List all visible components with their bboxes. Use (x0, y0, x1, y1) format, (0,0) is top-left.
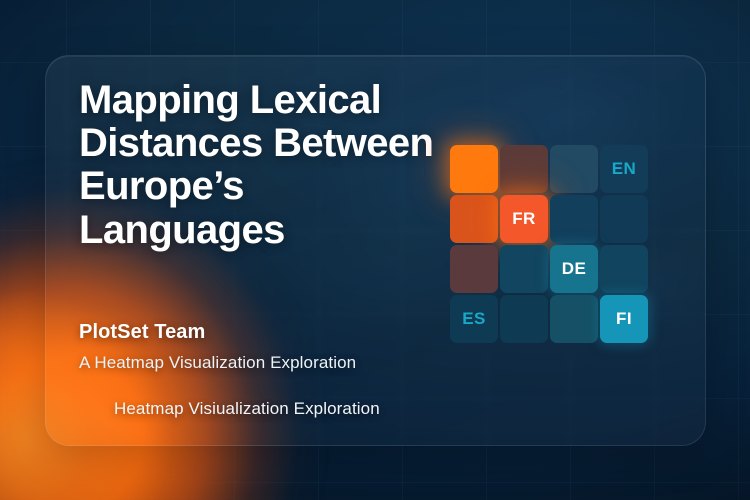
footnote: Heatmap Visiualization Exploration (114, 399, 380, 419)
poster-canvas: Mapping Lexical Distances Between Europe… (0, 0, 750, 500)
heatmap-cell[interactable] (450, 195, 498, 243)
heatmap-cell[interactable] (450, 245, 498, 293)
heatmap-cell[interactable] (600, 245, 648, 293)
heatmap-cell[interactable] (500, 245, 548, 293)
glass-card: Mapping Lexical Distances Between Europe… (45, 55, 706, 446)
subtitle: A Heatmap Visualization Exploration (79, 353, 356, 373)
heatmap-cell[interactable]: FI (600, 295, 648, 343)
heatmap-cell[interactable] (550, 145, 598, 193)
page-title: Mapping Lexical Distances Between Europe… (79, 79, 449, 252)
heatmap-cell[interactable]: EN (600, 145, 648, 193)
heatmap-cell[interactable]: DE (550, 245, 598, 293)
heatmap-grid: ENFRDEESFI (450, 145, 648, 343)
heatmap-cell[interactable] (550, 295, 598, 343)
heatmap-cell[interactable] (550, 195, 598, 243)
heatmap-cell[interactable] (450, 145, 498, 193)
heatmap-cell[interactable] (500, 145, 548, 193)
heatmap-cell-label: DE (562, 259, 586, 279)
heatmap-cell-label: FR (512, 209, 535, 229)
heatmap-cell-label: ES (462, 309, 485, 329)
heatmap-cell-label: EN (612, 159, 636, 179)
heatmap-cell[interactable]: ES (450, 295, 498, 343)
heatmap-cell-label: FI (616, 309, 632, 329)
heatmap-cell[interactable]: FR (500, 195, 548, 243)
heatmap-cell[interactable] (500, 295, 548, 343)
heatmap-cell[interactable] (600, 195, 648, 243)
byline-author: PlotSet Team (79, 321, 205, 344)
